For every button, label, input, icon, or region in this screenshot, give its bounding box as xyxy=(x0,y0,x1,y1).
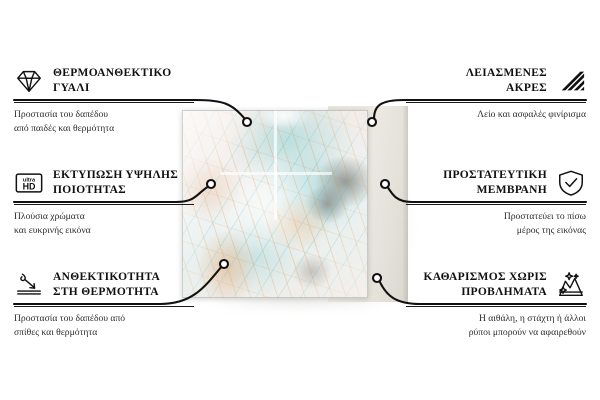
feature-heat-durability: ΑΝΘΕΚΤΙΚΟΤΗΤΑ ΣΤΗ ΘΕΡΜΟΤΗΤΑ Προστασία το… xyxy=(14,268,194,340)
ultra-hd-icon: ultra HD xyxy=(14,168,44,198)
svg-text:HD: HD xyxy=(23,182,36,192)
feature-divider xyxy=(14,204,194,205)
feature-divider xyxy=(406,306,586,307)
feature-description: Προστατεύει το πίσω μέρος της εικόνας xyxy=(406,210,586,238)
feature-description: Η αιθάλη, η στάχτη ή άλλοι ρύποι μπορούν… xyxy=(406,312,586,340)
feature-protective-membrane: ΠΡΟΣΤΑΤΕΥΤΙΚΗ ΜΕΜΒΡΑΝΗ Προστατεύει το πί… xyxy=(406,166,586,238)
feature-description: Προστασία του δαπέδου από σπίθες και θερ… xyxy=(14,312,194,340)
feature-high-quality-print: ultra HD ΕΚΤΥΠΩΣΗ ΥΨΗΛΗΣ ΠΟΙΟΤΗΤΑΣ Πλούσ… xyxy=(14,166,194,238)
feature-heat-resistant-glass: ΘΕΡΜΟΑΝΘΕΚΤΙΚΟ ΓΥΑΛΙ Προστασία του δαπέδ… xyxy=(14,64,194,136)
infographic-canvas: ΘΕΡΜΟΑΝΘΕΚΤΙΚΟ ΓΥΑΛΙ Προστασία του δαπέδ… xyxy=(0,0,600,400)
polished-edges-icon xyxy=(556,66,586,96)
feature-divider xyxy=(14,306,194,307)
feature-polished-edges: ΛΕΙΑΣΜΕΝΕΣ ΑΚΡΕΣ Λείο και ασφαλές φινίρι… xyxy=(406,64,586,122)
glass-panel-artwork xyxy=(182,110,368,298)
feature-title: ΛΕΙΑΣΜΕΝΕΣ ΑΚΡΕΣ xyxy=(466,66,547,95)
flame-deflect-icon xyxy=(14,270,44,300)
glass-edge xyxy=(182,110,368,298)
feature-description: Προστασία του δαπέδου από παιδές και θερ… xyxy=(14,108,194,136)
feature-description: Λείο και ασφαλές φινίρισμα xyxy=(406,108,586,122)
feature-divider xyxy=(406,204,586,205)
feature-divider xyxy=(406,102,586,103)
feature-title: ΠΡΟΣΤΑΤΕΥΤΙΚΗ ΜΕΜΒΡΑΝΗ xyxy=(443,168,547,197)
feature-divider xyxy=(14,102,194,103)
feature-title: ΑΝΘΕΚΤΙΚΟΤΗΤΑ ΣΤΗ ΘΕΡΜΟΤΗΤΑ xyxy=(53,270,160,299)
feature-title: ΘΕΡΜΟΑΝΘΕΚΤΙΚΟ ΓΥΑΛΙ xyxy=(53,66,172,95)
shield-check-icon xyxy=(556,168,586,198)
diamond-icon xyxy=(14,66,44,96)
feature-easy-cleaning: ΚΑΘΑΡΙΣΜΟΣ ΧΩΡΙΣ ΠΡΟΒΛΗΜΑΤΑ Η αιθάλη, η … xyxy=(406,268,586,340)
feature-title: ΕΚΤΥΠΩΣΗ ΥΨΗΛΗΣ ΠΟΙΟΤΗΤΑΣ xyxy=(53,168,178,197)
feature-description: Πλούσια χρώματα και ευκρινής εικόνα xyxy=(14,210,194,238)
sparkle-clean-icon xyxy=(556,270,586,300)
feature-title: ΚΑΘΑΡΙΣΜΟΣ ΧΩΡΙΣ ΠΡΟΒΛΗΜΑΤΑ xyxy=(423,270,547,299)
product-image xyxy=(182,108,408,303)
